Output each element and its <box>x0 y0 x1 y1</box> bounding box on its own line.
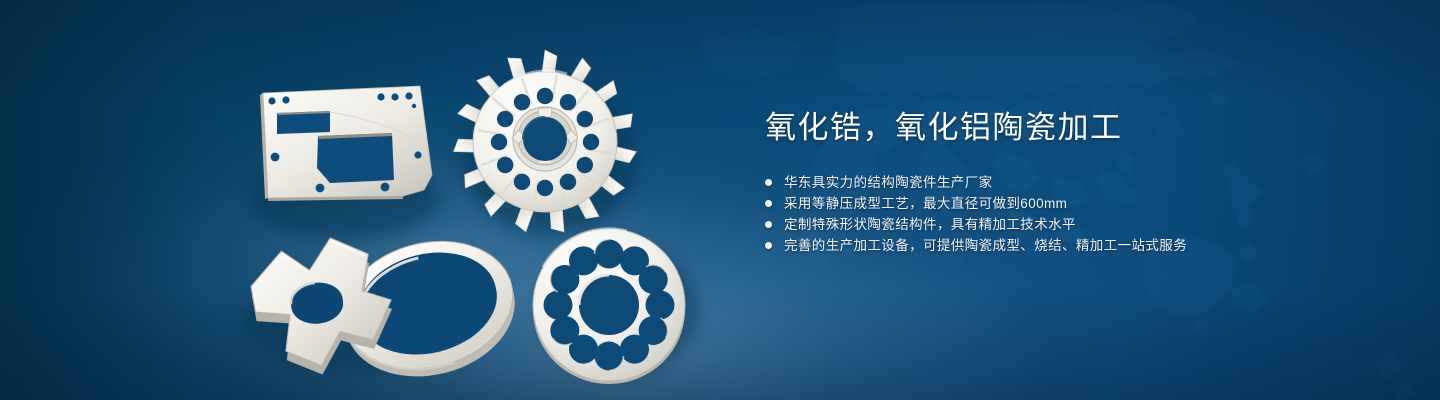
list-item-label: 完善的生产加工设备，可提供陶瓷成型、烧结、精加工一站式服务 <box>784 235 1187 256</box>
ceramic-plate <box>260 86 432 201</box>
list-item: 完善的生产加工设备，可提供陶瓷成型、烧结、精加工一站式服务 <box>765 235 1385 256</box>
product-photo-group <box>0 0 720 400</box>
feature-list: 华东具实力的结构陶瓷件生产厂家 采用等静压成型工艺，最大直径可做到600mm 定… <box>765 172 1385 256</box>
list-item-label: 采用等静压成型工艺，最大直径可做到600mm <box>784 193 1067 214</box>
bullet-dot-icon <box>765 242 772 249</box>
banner-copy: 氧化锆，氧化铝陶瓷加工 华东具实力的结构陶瓷件生产厂家 采用等静压成型工艺，最大… <box>765 108 1385 256</box>
list-item-label: 华东具实力的结构陶瓷件生产厂家 <box>784 172 993 193</box>
bullet-dot-icon <box>765 179 772 186</box>
list-item: 定制特殊形状陶瓷结构件，具有精加工技术水平 <box>765 214 1385 235</box>
bullet-dot-icon <box>765 200 772 207</box>
page-title: 氧化锆，氧化铝陶瓷加工 <box>765 108 1385 148</box>
list-item-label: 定制特殊形状陶瓷结构件，具有精加工技术水平 <box>784 214 1076 235</box>
bullet-dot-icon <box>765 221 772 228</box>
list-item: 采用等静压成型工艺，最大直径可做到600mm <box>765 193 1385 214</box>
ceramic-perforated-disc <box>533 229 685 384</box>
list-item: 华东具实力的结构陶瓷件生产厂家 <box>765 172 1385 193</box>
hero-banner: 氧化锆，氧化铝陶瓷加工 华东具实力的结构陶瓷件生产厂家 采用等静压成型工艺，最大… <box>0 0 1440 400</box>
